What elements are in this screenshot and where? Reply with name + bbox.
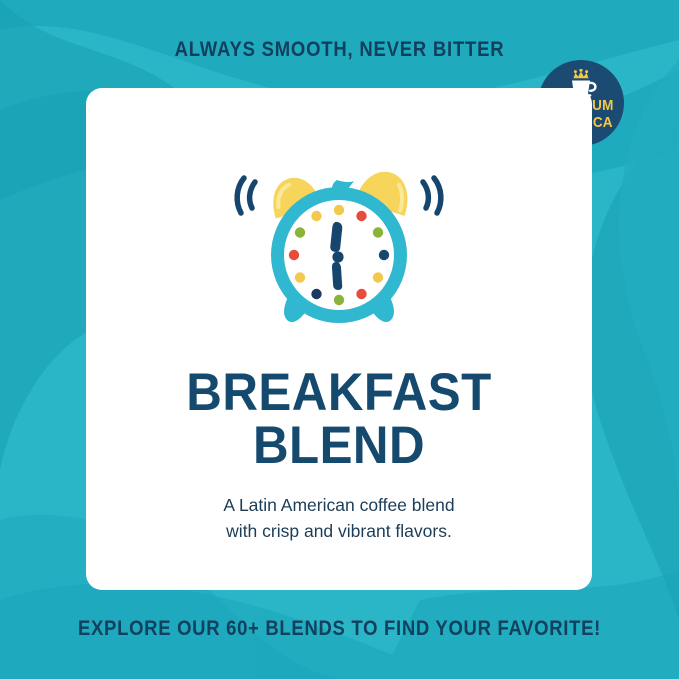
product-description: A Latin American coffee blend with crisp… — [86, 492, 592, 544]
clock-center-pin — [332, 251, 343, 262]
sound-wave-right — [423, 178, 441, 213]
description-line-1: A Latin American coffee blend — [86, 492, 592, 518]
title-line-1: BREAKFAST — [104, 366, 575, 419]
product-card: BREAKFAST BLEND A Latin American coffee … — [86, 88, 592, 590]
page-title: BREAKFAST BLEND — [104, 366, 575, 472]
description-line-2: with crisp and vibrant flavors. — [86, 518, 592, 544]
title-line-2: BLEND — [104, 419, 575, 472]
sound-wave-left — [237, 178, 255, 213]
product-card-image: ALWAYS SMOOTH, NEVER BITTER PREMIUM ARAB… — [0, 0, 679, 679]
footer-tagline: EXPLORE OUR 60+ BLENDS TO FIND YOUR FAVO… — [41, 617, 639, 641]
alarm-clock-icon — [219, 140, 459, 340]
header-tagline: ALWAYS SMOOTH, NEVER BITTER — [41, 38, 639, 62]
